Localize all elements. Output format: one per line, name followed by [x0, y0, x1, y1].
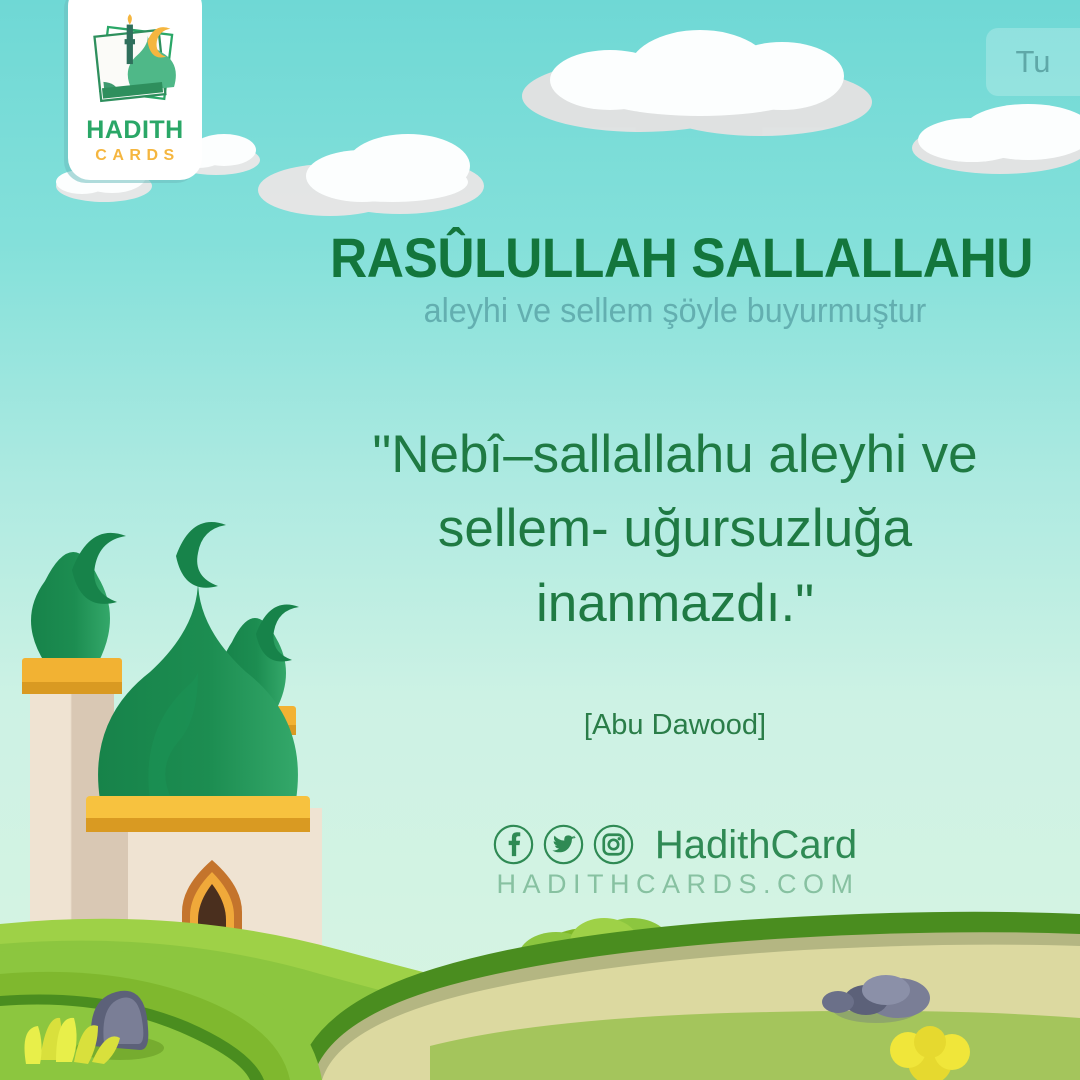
- instagram-icon[interactable]: [593, 824, 634, 865]
- brand-logo-badge[interactable]: HADITH CARDS: [68, 0, 202, 180]
- twitter-icon[interactable]: [543, 824, 584, 865]
- brand-handle-text: HadithCard: [655, 825, 857, 865]
- social-links-row: HadithCard: [300, 824, 1050, 865]
- facebook-icon[interactable]: [493, 824, 534, 865]
- logo-word-hadith: HADITH: [86, 118, 183, 143]
- website-url-text: HADITHCARDS.COM: [300, 869, 1050, 900]
- landscape: [0, 912, 1080, 1080]
- heading-main: RASÛLULLAH SALLALLAHU: [330, 228, 1020, 287]
- card-footer: HadithCard HADITHCARDS.COM: [300, 824, 1050, 900]
- logo-word-cards: CARDS: [90, 148, 179, 164]
- mosque-photo-stack-logo-icon: [83, 10, 187, 114]
- hadith-card: HADITH CARDS Tu RASÛLULLAH SALLALLAHU al…: [0, 0, 1080, 1080]
- heading-subtitle: aleyhi ve sellem şöyle buyurmuştur: [319, 291, 1032, 332]
- card-content: RASÛLULLAH SALLALLAHU aleyhi ve sellem ş…: [300, 228, 1050, 742]
- hadith-source-attribution: [Abu Dawood]: [300, 709, 1050, 742]
- language-badge[interactable]: Tu: [986, 28, 1080, 96]
- hadith-quote-text: "Nebî–sallallahu aleyhi ve sellem- uğurs…: [300, 418, 1050, 641]
